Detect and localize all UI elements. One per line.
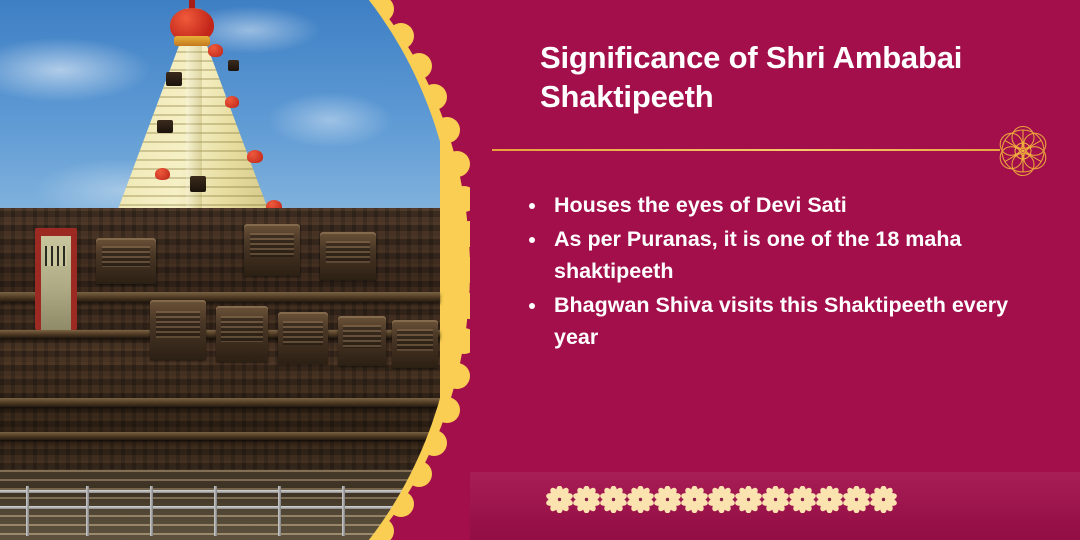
flower-icon [654, 486, 681, 526]
page-title: Significance of Shri Ambabai Shaktipeeth [540, 38, 1010, 117]
tower-niche [190, 176, 206, 192]
flower-icon [870, 486, 897, 526]
tower-niche [228, 60, 239, 71]
list-item: Houses the eyes of Devi Sati [522, 190, 1042, 221]
flower-icon [546, 486, 573, 526]
flower-icon [735, 486, 762, 526]
divider [492, 118, 1072, 184]
temple-shrine-niche [216, 306, 268, 362]
gold-scallop-bump [456, 293, 470, 319]
slide-canvas: Significance of Shri Ambabai Shaktipeeth [0, 0, 1080, 540]
gold-scallop-bump [457, 257, 470, 283]
flower-icon [600, 486, 627, 526]
photo-clip [0, 0, 458, 540]
footer-flower-row [546, 486, 897, 526]
gold-scallop-bump [451, 186, 470, 212]
temple-shrine-niche [150, 300, 206, 360]
temple-cornice [0, 432, 440, 440]
temple-shrine-niche [96, 238, 156, 284]
temple-shrine-niche [338, 316, 386, 366]
flower-icon [843, 486, 870, 526]
temple-shrine-niche [320, 232, 376, 280]
temple-door-grill [45, 246, 67, 266]
photo-panel [0, 0, 470, 540]
divider-line [492, 149, 1000, 151]
bullet-list: Houses the eyes of Devi Sati As per Pura… [522, 190, 1042, 356]
amalaka-ornament [247, 150, 263, 163]
temple-shrine-niche [392, 320, 438, 368]
footer-bar [470, 472, 1080, 540]
floral-rosette-icon [990, 118, 1056, 184]
gold-scallop-bump [456, 221, 470, 247]
amalaka-ornament [225, 96, 239, 108]
temple-cornice [0, 398, 440, 407]
list-item: As per Puranas, it is one of the 18 maha… [522, 224, 1042, 287]
flower-icon [816, 486, 843, 526]
flower-icon [789, 486, 816, 526]
gold-scallop-bump [451, 328, 470, 354]
amalaka-ornament [155, 168, 170, 180]
list-item: Bhagwan Shiva visits this Shaktipeeth ev… [522, 290, 1042, 353]
metal-railing [0, 486, 440, 540]
flower-icon [708, 486, 735, 526]
flower-icon [681, 486, 708, 526]
temple-shrine-niche [244, 224, 300, 276]
temple-shrine-niche [278, 312, 328, 364]
kalash-band [174, 36, 210, 46]
amalaka-ornament [208, 44, 223, 57]
flower-icon [573, 486, 600, 526]
flower-icon [627, 486, 654, 526]
gold-scallop-bump [444, 363, 470, 389]
content-panel: Significance of Shri Ambabai Shaktipeeth [470, 0, 1080, 540]
tower-niche [157, 120, 173, 133]
temple-photo [0, 0, 210, 410]
flower-icon [762, 486, 789, 526]
tower-niche [166, 72, 182, 86]
